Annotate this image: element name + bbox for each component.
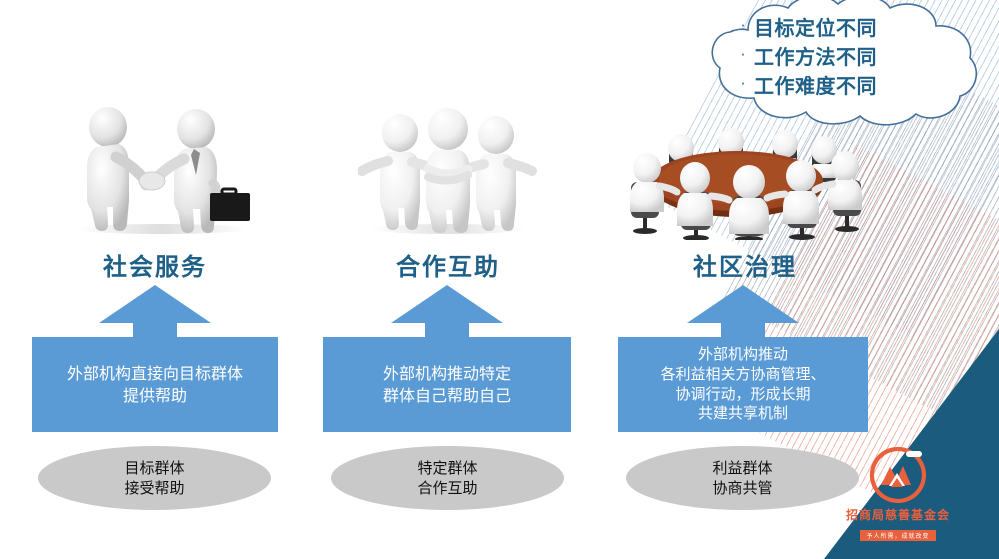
cloud-bullet-list: · 目标定位不同 · 工作方法不同 · 工作难度不同 xyxy=(732,12,972,99)
arrow-text-community-governance: 外部机构推动 各利益相关方协商管理、 协调行动，形成长期 共建共享机制 xyxy=(618,337,868,432)
arrow-text-social-service: 外部机构直接向目标群体 提供帮助 xyxy=(32,337,278,432)
arrow-head-up-icon xyxy=(687,285,799,323)
arrow-stem xyxy=(721,323,765,337)
cmb-charity-mountain-logo-icon xyxy=(869,446,927,504)
column-social-service: 社会服务 外部机构直接向目标群体 提供帮助 目标群体 接受帮助 xyxy=(20,105,290,525)
arrow-head-up-icon xyxy=(391,285,503,323)
logo-organization-name: 招商局慈善基金会 xyxy=(838,506,958,523)
column-heading-cooperation: 合作互助 xyxy=(323,247,573,282)
ellipse-community-governance: 利益群体 协商共管 xyxy=(626,446,859,510)
organization-logo: 招商局慈善基金会 予人所需，成就改变 xyxy=(838,446,958,538)
arrow-block-social-service: 外部机构直接向目标群体 提供帮助 xyxy=(32,285,278,432)
arrow-block-cooperation: 外部机构推动特定 群体自己帮助自己 xyxy=(323,285,571,432)
column-heading-community-governance: 社区治理 xyxy=(615,247,875,282)
column-heading-social-service: 社会服务 xyxy=(20,247,290,282)
bullet-dot-icon: · xyxy=(732,19,754,34)
three-figures-team-image xyxy=(358,105,538,235)
slide-canvas: · 目标定位不同 · 工作方法不同 · 工作难度不同 xyxy=(0,0,999,559)
bullet-dot-icon: · xyxy=(732,48,754,63)
callout-text-3: 工作难度不同 xyxy=(754,70,877,99)
handshake-figures-image xyxy=(72,105,252,235)
logo-tagline: 予人所需，成就改变 xyxy=(860,530,935,541)
arrow-text-cooperation: 外部机构推动特定 群体自己帮助自己 xyxy=(323,337,571,432)
cloud-list-item: · 目标定位不同 xyxy=(732,12,972,41)
round-table-meeting-image xyxy=(607,120,867,240)
bullet-dot-icon: · xyxy=(732,77,754,92)
arrow-head-up-icon xyxy=(99,285,211,323)
ellipse-social-service: 目标群体 接受帮助 xyxy=(38,446,271,510)
callout-text-2: 工作方法不同 xyxy=(754,41,877,70)
column-cooperation: 合作互助 外部机构推动特定 群体自己帮助自己 特定群体 合作互助 xyxy=(323,105,573,525)
arrow-stem xyxy=(133,323,177,337)
ellipse-cooperation: 特定群体 合作互助 xyxy=(331,446,564,510)
column-community-governance: 社区治理 外部机构推动 各利益相关方协商管理、 协调行动，形成长期 共建共享机制… xyxy=(615,105,875,525)
cloud-list-item: · 工作难度不同 xyxy=(732,70,972,99)
callout-text-1: 目标定位不同 xyxy=(754,12,877,41)
arrow-block-community-governance: 外部机构推动 各利益相关方协商管理、 协调行动，形成长期 共建共享机制 xyxy=(618,285,868,432)
cloud-list-item: · 工作方法不同 xyxy=(732,41,972,70)
arrow-stem xyxy=(425,323,469,337)
